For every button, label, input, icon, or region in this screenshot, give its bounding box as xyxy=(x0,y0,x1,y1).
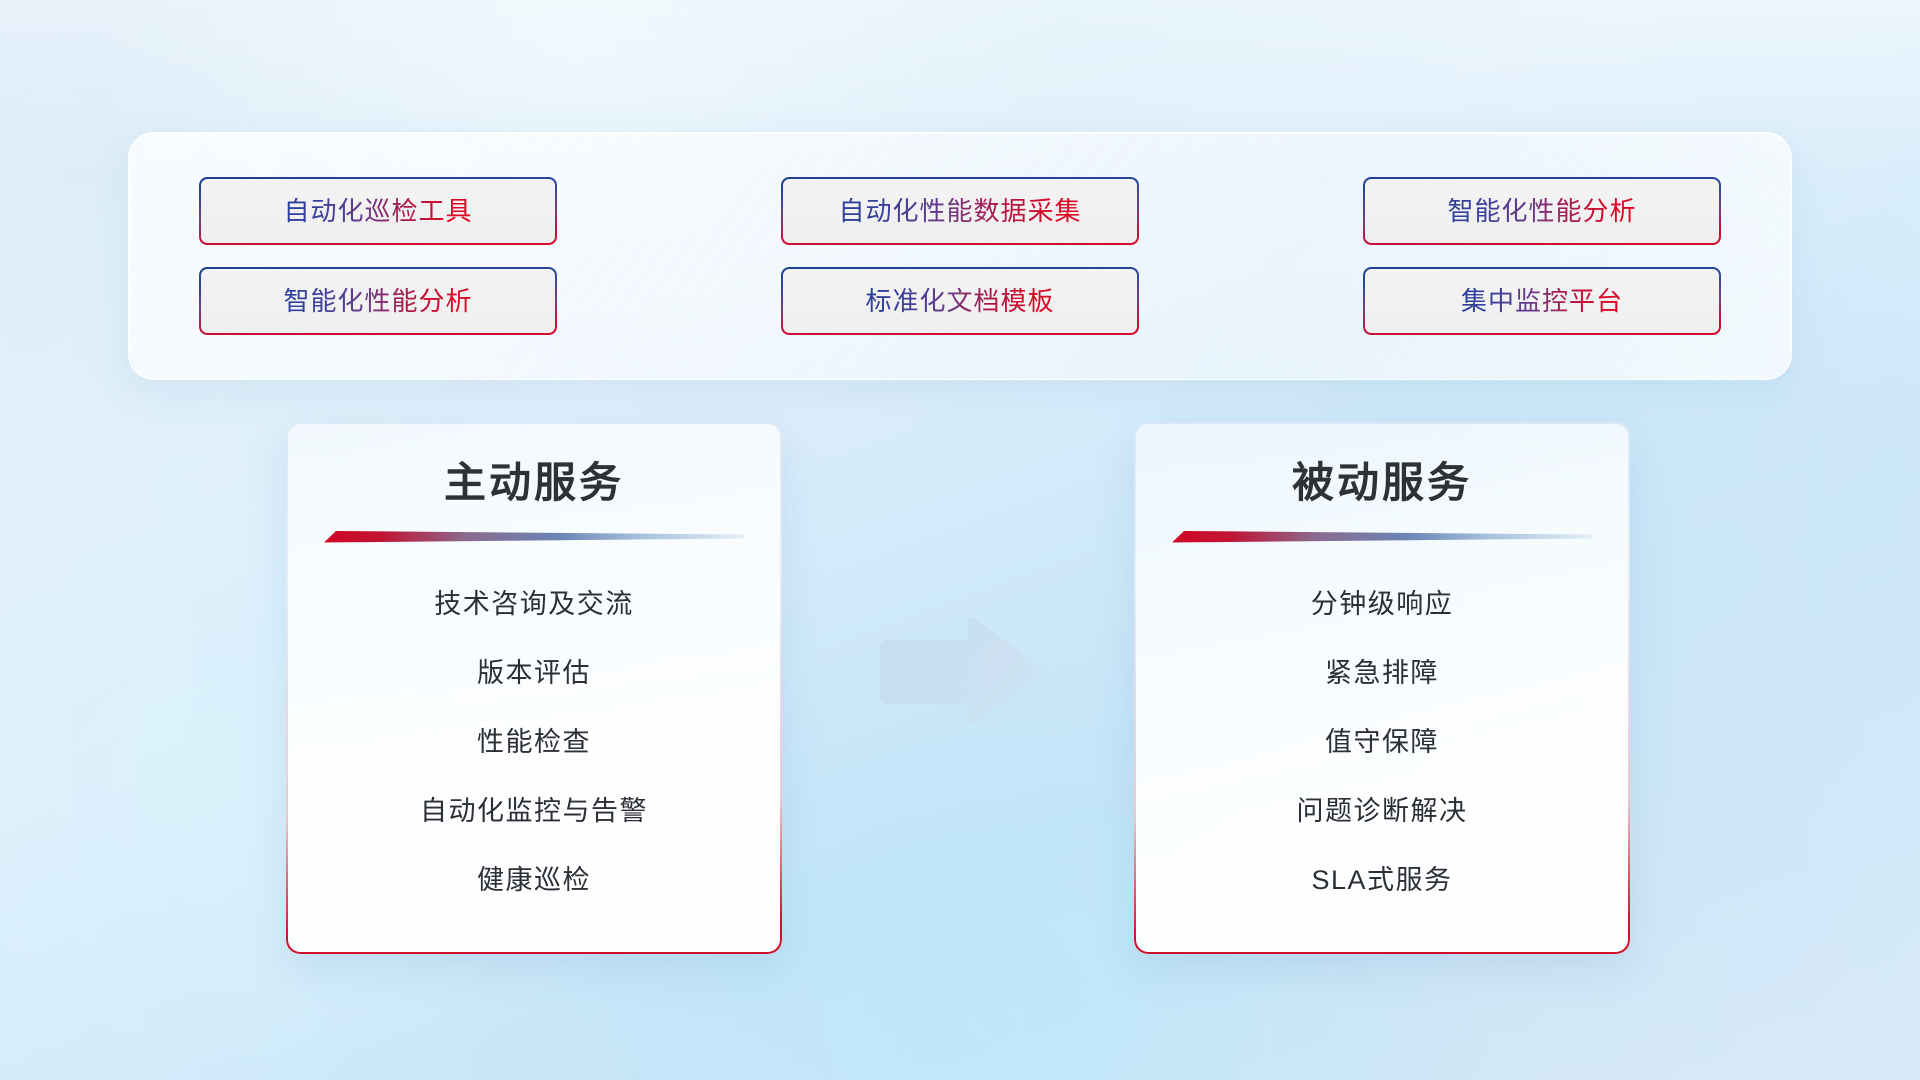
service-list-item: SLA式服务 xyxy=(1160,846,1604,915)
service-list-item: 自动化监控与告警 xyxy=(312,777,756,846)
service-list-item: 技术咨询及交流 xyxy=(312,570,756,639)
service-card-passive: 被动服务 分钟级响应 紧急排障 值守保障 问题诊断解决 SLA式服务 xyxy=(1134,422,1630,954)
capability-tags-panel: 自动化巡检工具 自动化性能数据采集 智能化性能分析 智能化性能分析 标准化文档模… xyxy=(128,132,1792,380)
service-list-item: 问题诊断解决 xyxy=(1160,777,1604,846)
capability-tag-row-2: 智能化性能分析 标准化文档模板 集中监控平台 xyxy=(199,267,1721,335)
capability-tag[interactable]: 自动化巡检工具 xyxy=(199,177,557,245)
arrow-right-icon xyxy=(872,612,1048,732)
service-list-item: 分钟级响应 xyxy=(1160,570,1604,639)
capability-tag-row-1: 自动化巡检工具 自动化性能数据采集 智能化性能分析 xyxy=(199,177,1721,245)
capability-tag-label: 自动化性能数据采集 xyxy=(838,198,1081,224)
capability-tag-label: 智能化性能分析 xyxy=(1447,198,1636,224)
capability-tag-label: 集中监控平台 xyxy=(1461,288,1623,314)
capability-tag[interactable]: 智能化性能分析 xyxy=(199,267,557,335)
capability-tag-label: 自动化巡检工具 xyxy=(283,198,472,224)
capability-tag[interactable]: 集中监控平台 xyxy=(1363,267,1721,335)
service-list-item: 值守保障 xyxy=(1160,708,1604,777)
service-list-item: 版本评估 xyxy=(312,639,756,708)
capability-tag[interactable]: 智能化性能分析 xyxy=(1363,177,1721,245)
card-divider xyxy=(1172,530,1592,544)
card-title: 主动服务 xyxy=(286,458,782,508)
service-item-list: 分钟级响应 紧急排障 值守保障 问题诊断解决 SLA式服务 xyxy=(1134,570,1630,915)
card-divider xyxy=(324,530,744,544)
capability-tag-label: 智能化性能分析 xyxy=(283,288,472,314)
service-item-list: 技术咨询及交流 版本评估 性能检查 自动化监控与告警 健康巡检 xyxy=(286,570,782,915)
service-card-active: 主动服务 技术咨询及交流 版本评估 性能检查 自动化监控与告警 健康巡检 xyxy=(286,422,782,954)
service-list-item: 健康巡检 xyxy=(312,846,756,915)
capability-tag[interactable]: 标准化文档模板 xyxy=(781,267,1139,335)
diagram-canvas: 自动化巡检工具 自动化性能数据采集 智能化性能分析 智能化性能分析 标准化文档模… xyxy=(0,0,1920,1080)
capability-tag-label: 标准化文档模板 xyxy=(865,288,1054,314)
card-title: 被动服务 xyxy=(1134,458,1630,508)
service-list-item: 性能检查 xyxy=(312,708,756,777)
service-list-item: 紧急排障 xyxy=(1160,639,1604,708)
capability-tag[interactable]: 自动化性能数据采集 xyxy=(781,177,1139,245)
